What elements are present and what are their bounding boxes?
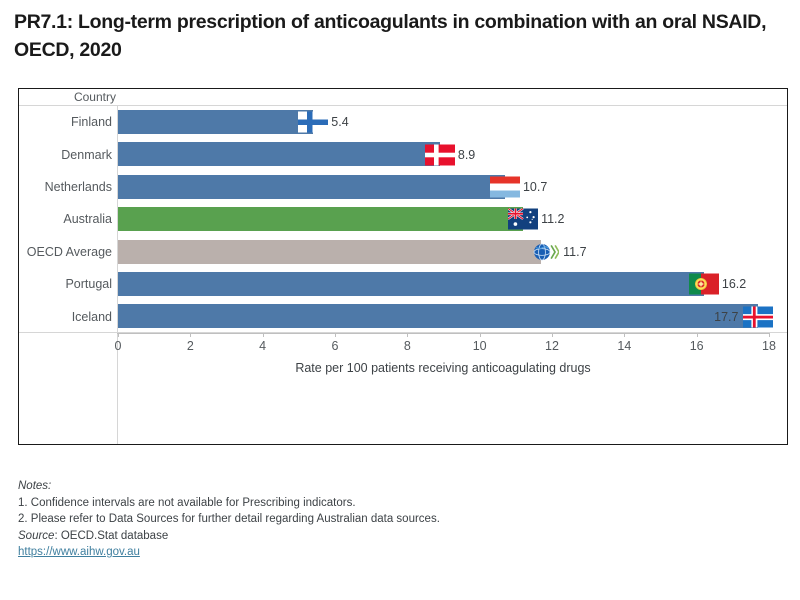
bar-finland[interactable] [118,110,313,134]
table-row[interactable]: Finland5.4 [19,106,787,138]
x-tick [407,333,408,337]
table-row[interactable]: Portugal16.2 [19,268,787,300]
table-row[interactable]: Denmark8.9 [19,138,787,170]
x-tick [624,333,625,337]
x-tick [263,333,264,337]
x-tick-label: 6 [332,339,339,353]
row-label-portugal: Portugal [19,277,112,291]
column-header-country: Country [19,90,116,104]
row-label-oecd-average: OECD Average [19,245,112,259]
x-tick [335,333,336,337]
chart-header-row: Country [19,89,787,106]
x-tick [190,333,191,337]
x-tick [769,333,770,337]
value-label-iceland: 17.7 [714,310,738,324]
flag-netherlands-icon [490,176,520,197]
chart-frame: Country Finland5.4Denmark8.9Netherlands1… [18,88,788,445]
row-label-netherlands: Netherlands [19,180,112,194]
value-label-portugal: 16.2 [722,277,746,291]
x-tick-label: 10 [473,339,487,353]
bar-iceland[interactable] [118,304,758,328]
value-label-australia: 11.2 [541,212,564,226]
bar-oecd-average[interactable] [118,240,541,264]
notes-line-2: 2. Please refer to Data Sources for furt… [18,511,778,528]
source-url-link[interactable]: https://www.aihw.gov.au [18,546,140,558]
x-tick [480,333,481,337]
notes-source: Source: OECD.Stat database [18,528,778,545]
x-tick-label: 0 [115,339,122,353]
flag-iceland-icon [743,306,773,327]
value-label-finland: 5.4 [331,115,348,129]
value-label-oecd-average: 11.7 [563,245,586,259]
table-row[interactable]: OECD Average11.7 [19,236,787,268]
table-row[interactable]: Australia11.2 [19,203,787,235]
x-axis-title: Rate per 100 patients receiving anticoag… [117,361,769,375]
row-label-finland: Finland [19,115,112,129]
x-tick [697,333,698,337]
source-label: Source [18,530,54,542]
x-tick [118,333,119,337]
x-tick-label: 12 [545,339,559,353]
value-label-netherlands: 10.7 [523,180,547,194]
value-label-denmark: 8.9 [458,148,475,162]
notes-link-row: https://www.aihw.gov.au [18,544,778,561]
notes-line-1: 1. Confidence intervals are not availabl… [18,495,778,512]
flag-finland-icon [298,112,328,133]
x-axis-line [117,333,769,334]
chart-page: PR7.1: Long-term prescription of anticoa… [0,0,800,600]
x-tick-label: 4 [259,339,266,353]
notes-heading: Notes: [18,478,778,495]
x-tick-label: 8 [404,339,411,353]
plot-area: Finland5.4Denmark8.9Netherlands10.7Austr… [19,106,787,333]
x-tick-label: 18 [762,339,776,353]
row-label-denmark: Denmark [19,148,112,162]
bar-denmark[interactable] [118,142,440,166]
x-tick-label: 14 [617,339,631,353]
table-row[interactable]: Iceland17.7 [19,300,787,332]
flag-denmark-icon [425,144,455,165]
bar-netherlands[interactable] [118,175,505,199]
oecd-globe-icon [533,241,559,262]
notes-block: Notes: 1. Confidence intervals are not a… [18,478,778,561]
row-label-iceland: Iceland [19,310,112,324]
bar-portugal[interactable] [118,272,704,296]
bar-australia[interactable] [118,207,523,231]
page-title: PR7.1: Long-term prescription of anticoa… [14,8,774,64]
x-axis: Rate per 100 patients receiving anticoag… [19,333,787,373]
x-tick-label: 16 [690,339,704,353]
x-tick [552,333,553,337]
flag-portugal-icon [689,274,719,295]
source-value: : OECD.Stat database [54,530,168,542]
row-label-australia: Australia [19,212,112,226]
x-tick-label: 2 [187,339,194,353]
flag-australia-icon [508,209,538,230]
table-row[interactable]: Netherlands10.7 [19,171,787,203]
